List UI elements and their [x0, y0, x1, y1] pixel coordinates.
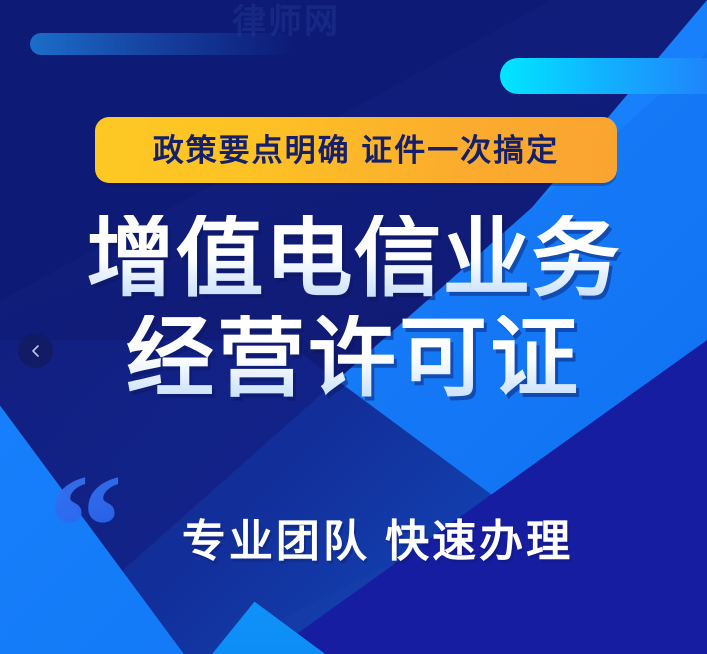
carousel-prev-button[interactable] [18, 333, 53, 368]
tagline-label: 专业团队 快速办理 [182, 517, 573, 566]
promo-banner: 律师网 政策要点明确 证件一次搞定 增值电信业务 经营许可证 “ 专业团队 快速… [0, 0, 707, 654]
decorative-pill-cyan [500, 58, 707, 94]
cta-banner[interactable]: 政策要点明确 证件一次搞定 [95, 117, 617, 183]
cta-banner-label: 政策要点明确 证件一次搞定 [153, 135, 560, 166]
decorative-pill-dark [30, 33, 292, 55]
headline-line-2: 经营许可证 [0, 315, 707, 401]
headline-line-1: 增值电信业务 [0, 215, 707, 301]
chevron-left-icon [29, 344, 43, 358]
tagline: 专业团队 快速办理 [0, 505, 707, 569]
headline: 增值电信业务 经营许可证 [0, 215, 707, 401]
